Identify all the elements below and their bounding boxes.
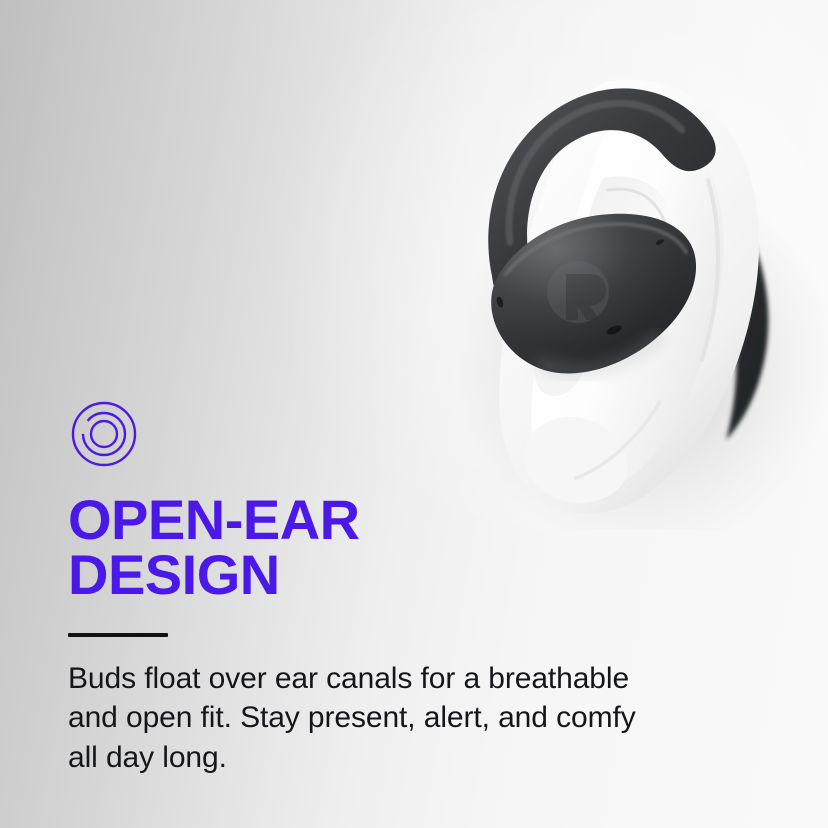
- feature-copy-block: OPEN-EAR DESIGN Buds float over ear cana…: [68, 398, 688, 778]
- feature-description: Buds float over ear canals for a breatha…: [68, 659, 668, 778]
- title-divider: [68, 633, 168, 637]
- concentric-sound-waves-icon: [68, 398, 140, 470]
- promo-card: OPEN-EAR DESIGN Buds float over ear cana…: [0, 0, 828, 828]
- raycon-r-logo: [547, 261, 609, 323]
- page-title: OPEN-EAR DESIGN: [68, 492, 688, 603]
